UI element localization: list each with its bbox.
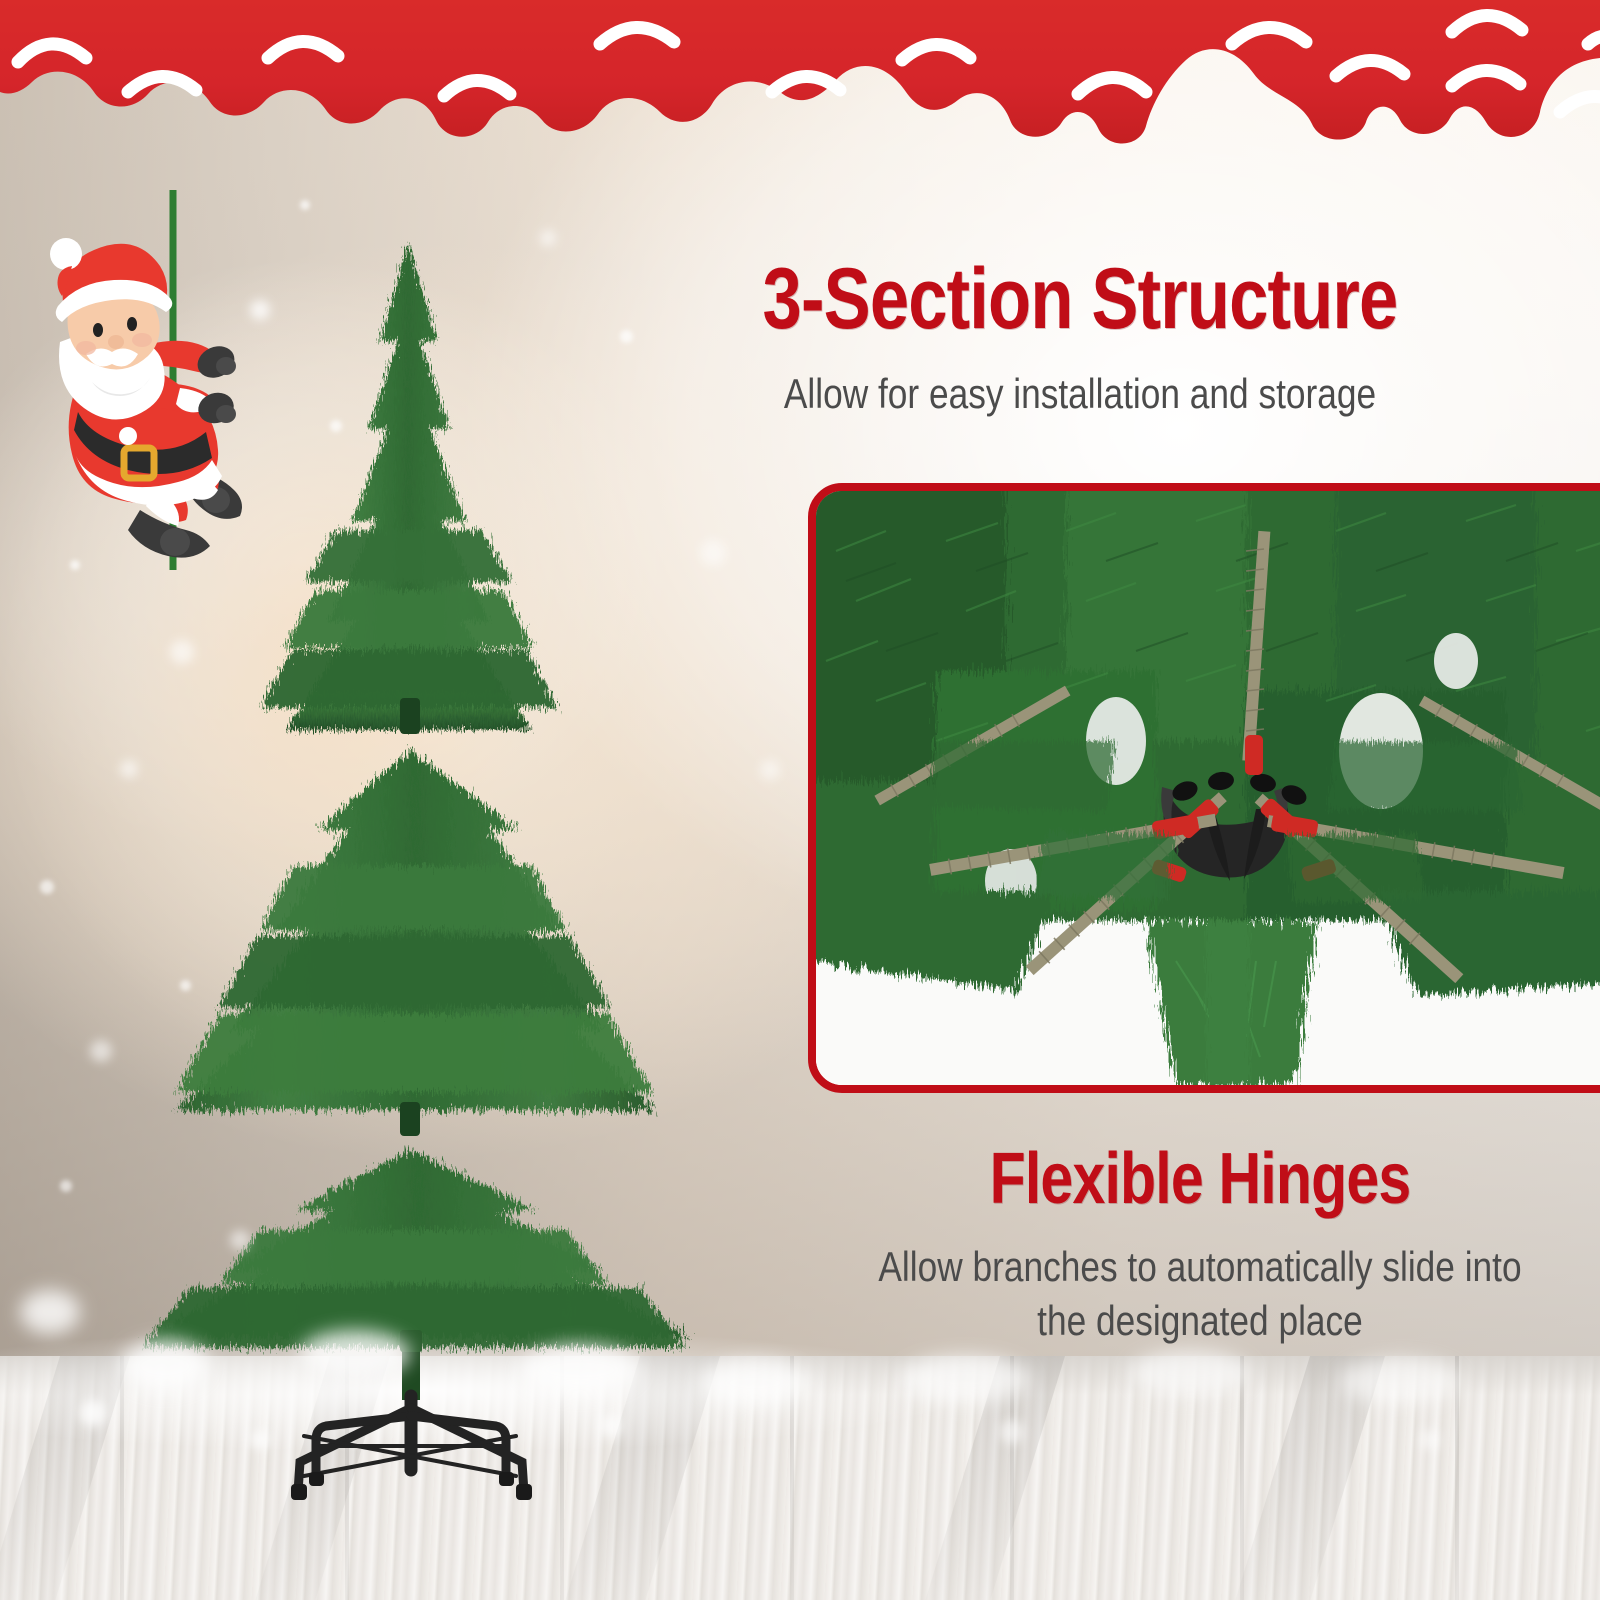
center-trunk [1206,921,1250,1085]
santa-eye [93,323,103,337]
foliage-mass [816,491,1600,951]
infographic-canvas: 3-Section Structure Allow for easy insta… [0,0,1600,1600]
santa-pompom [50,238,82,270]
section-2-heading: Flexible Hinges [872,1139,1528,1219]
santa-claus-climbing-rope [20,190,270,570]
section-1-heading: 3-Section Structure [670,253,1490,345]
section-1-subheading: Allow for easy installation and storage [660,368,1500,420]
section-2-subheading: Allow branches to automatically slide in… [864,1240,1536,1348]
tree-pole-top [400,698,420,734]
red-tip [1245,735,1263,775]
hinge-closeup-photo [808,483,1600,1093]
christmas-red-drip-banner [0,0,1600,150]
tree-metal-stand [298,1396,524,1492]
santa-eye [127,317,137,331]
tree-pole-middle [400,1102,420,1136]
hinge-photo-content [816,491,1600,1085]
